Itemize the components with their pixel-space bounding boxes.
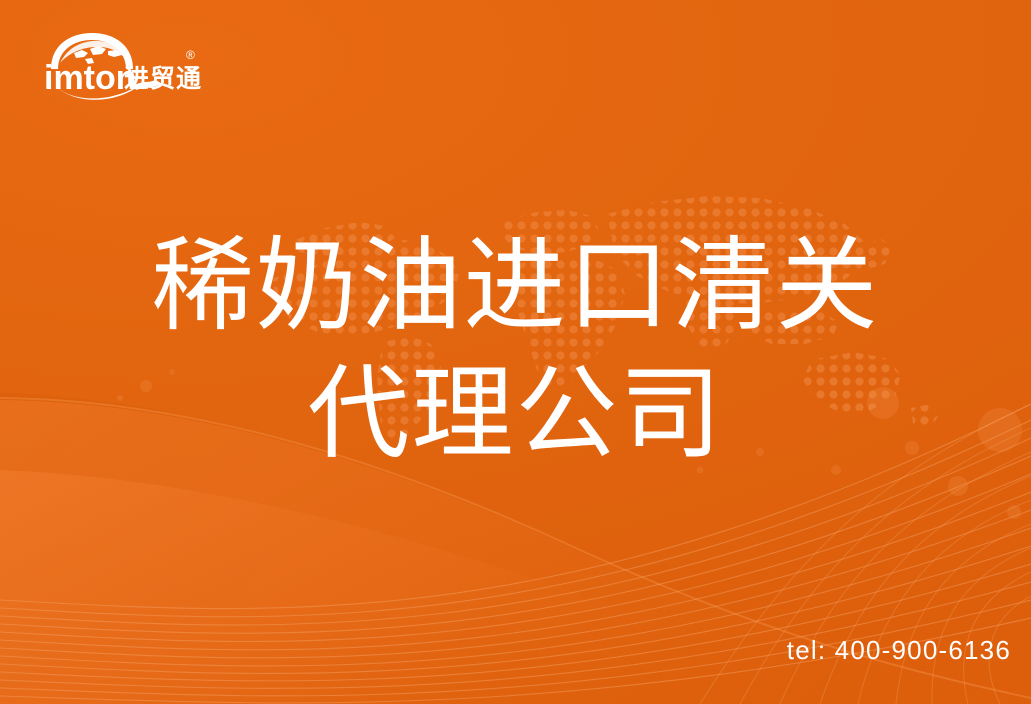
contact-telephone: tel: 400-900-6136: [787, 635, 1011, 666]
headline-line-2: 代理公司: [0, 350, 1031, 478]
logo-latin-text: imton: [44, 59, 137, 97]
promo-banner: imton 进贸通 ® 稀奶油进口清关 代理公司 tel: 400-900-61…: [0, 0, 1031, 704]
trademark-icon: ®: [186, 48, 195, 62]
page-title: 稀奶油进口清关 代理公司: [0, 222, 1031, 478]
brand-logo[interactable]: imton 进贸通 ®: [38, 29, 210, 101]
headline-line-1: 稀奶油进口清关: [0, 222, 1031, 350]
logo-chinese-text: 进贸通: [124, 65, 202, 93]
